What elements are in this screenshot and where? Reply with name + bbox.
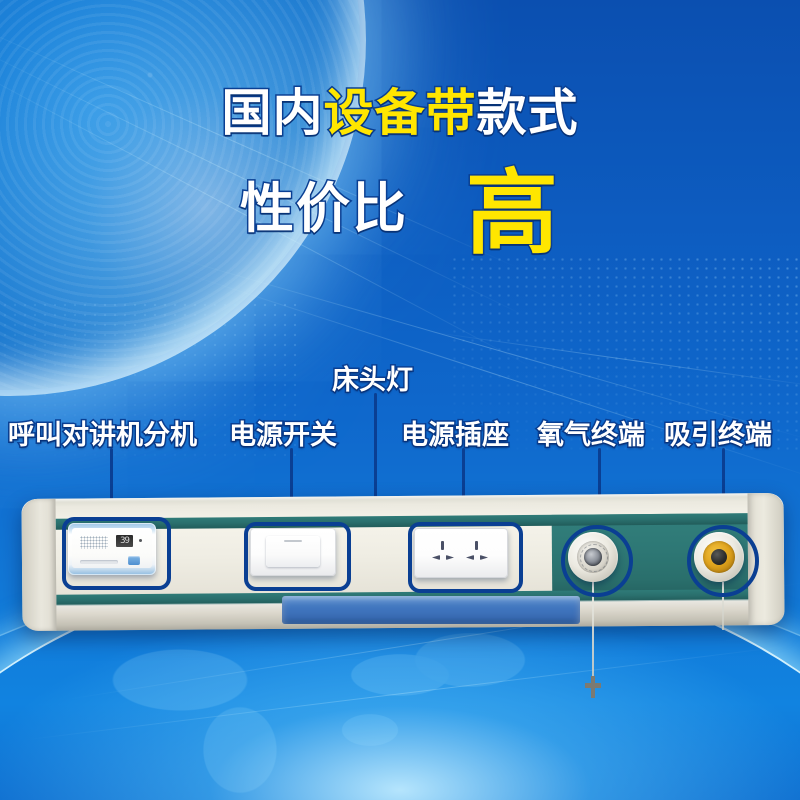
callout-layer: 呼叫对讲机分机 电源开关 床头灯 电源插座 氧气终端 吸引终端: [0, 0, 800, 800]
panel-end-cap-left: [21, 499, 56, 631]
highlight-box-power-socket: [408, 522, 523, 593]
poster-canvas: 国内设备带款式 性价比高 呼叫对讲机分机 电源开关 床头灯 电源插座 氧气终端 …: [0, 0, 800, 800]
highlight-box-intercom: [62, 517, 171, 590]
callout-label-power-switch: 电源开关: [229, 413, 337, 452]
callout-label-oxygen: 氧气终端: [537, 413, 645, 452]
callout-label-suction: 吸引终端: [664, 413, 772, 452]
highlight-circle-oxygen: [561, 525, 633, 597]
highlight-box-power-switch: [244, 522, 351, 591]
highlight-circle-suction: [687, 525, 759, 597]
call-pull-cord[interactable]: [592, 582, 594, 690]
callout-label-power-socket: 电源插座: [401, 413, 509, 452]
cord-pull-handle-icon[interactable]: [585, 676, 601, 698]
callout-label-intercom: 呼叫对讲机分机: [8, 413, 197, 452]
bed-reading-lamp[interactable]: [282, 596, 580, 624]
callout-label-bed-lamp: 床头灯: [332, 358, 413, 397]
